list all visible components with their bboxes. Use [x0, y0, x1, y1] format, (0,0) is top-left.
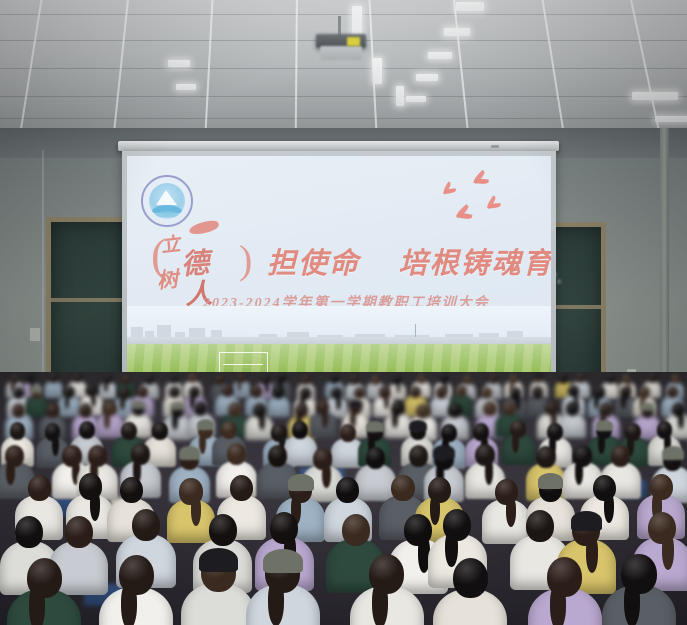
- headline-segment-1: 担使命: [267, 248, 360, 280]
- baseball-cap: [179, 446, 201, 460]
- audience-person-head: [103, 401, 116, 416]
- audience-person-head: [188, 373, 197, 383]
- audience-person-head: [599, 402, 612, 417]
- baseball-cap: [30, 385, 42, 393]
- audience-person-head: [11, 374, 20, 384]
- audience-person-head: [28, 475, 51, 501]
- audience-person-head: [336, 477, 359, 503]
- baseball-cap: [640, 402, 655, 411]
- baseball-cap: [170, 401, 185, 410]
- audience-person-head: [594, 386, 605, 399]
- baseball-cap: [199, 548, 238, 573]
- audience-person-head: [366, 447, 385, 469]
- baseball-cap: [26, 373, 36, 379]
- lecture-hall-photo: ( ) 立 德 树 人 担使命 培根铸魂育新人 2023-2024学年第一学期教…: [0, 0, 687, 625]
- headline-char-3: 树: [156, 263, 180, 295]
- audience-person-head: [145, 375, 154, 385]
- audience-person-head: [475, 444, 494, 466]
- projector-sticker-icon: [347, 37, 360, 46]
- audience-person-head: [371, 375, 380, 385]
- audience-person-head: [443, 509, 471, 541]
- audience-person-head: [27, 558, 62, 598]
- audience-person-head: [179, 478, 202, 504]
- audience-person-head: [489, 374, 498, 384]
- audience-person-head: [64, 386, 75, 399]
- baseball-cap: [534, 372, 544, 378]
- baseball-cap: [288, 474, 314, 490]
- brush-stroke-icon: [188, 219, 220, 236]
- audience-person-head: [79, 403, 92, 418]
- ceiling-light-panel: [406, 96, 426, 102]
- audience-person-head: [122, 375, 131, 385]
- ceiling-light-panel: [655, 116, 687, 122]
- audience-person-head: [209, 514, 237, 546]
- ceiling-light-panel: [352, 6, 362, 36]
- audience-person-head: [342, 514, 370, 546]
- audience-person-head: [65, 516, 93, 548]
- audience-person-head: [453, 558, 488, 598]
- audience-person-head: [12, 403, 25, 418]
- ceiling-light-panel: [416, 74, 438, 81]
- baseball-cap: [348, 399, 363, 408]
- baseball-cap: [366, 421, 384, 432]
- calligraphy-bracket-right-icon: ): [239, 236, 252, 283]
- audience-person-head: [369, 554, 404, 594]
- audience-person-head: [121, 422, 137, 440]
- audience-person-head: [392, 375, 401, 385]
- audience-person-head: [547, 557, 582, 597]
- audience-person-head: [340, 424, 356, 442]
- audience-person-head: [152, 422, 168, 440]
- ceiling-light-panel: [168, 60, 190, 67]
- audience-person-head: [410, 386, 421, 399]
- suspended-ceiling: [0, 0, 687, 128]
- wall-seam-left: [42, 150, 44, 400]
- audience-person-head: [313, 448, 332, 470]
- audience-person-head: [271, 424, 287, 442]
- audience-person-head: [230, 475, 253, 501]
- audience-person-head: [268, 445, 287, 467]
- audience-person-head: [576, 373, 585, 383]
- audience-person-head: [295, 403, 308, 418]
- audience-person-head: [227, 443, 246, 465]
- baseball-cap: [131, 400, 146, 409]
- audience-person-head: [391, 475, 414, 501]
- audience-person-head: [354, 387, 365, 400]
- audience-person-head: [559, 374, 568, 384]
- audience-person-head: [119, 387, 130, 400]
- audience-person-head: [137, 386, 148, 399]
- audience-person-head: [547, 423, 563, 441]
- audience-person-head: [611, 445, 630, 467]
- baseball-cap: [596, 420, 614, 431]
- baseball-cap: [662, 446, 684, 460]
- audience-person-head: [573, 445, 592, 467]
- presentation-slide: ( ) 立 德 树 人 担使命 培根铸魂育新人 2023-2024学年第一学期教…: [127, 156, 551, 398]
- audience-person-head: [404, 514, 432, 546]
- audience-person-head: [648, 512, 676, 544]
- ceiling-light-panel: [428, 52, 452, 59]
- audience-person-head: [221, 421, 237, 439]
- audience-person-head: [73, 373, 82, 383]
- projection-screen: ( ) 立 德 树 人 担使命 培根铸魂育新人 2023-2024学年第一学期教…: [122, 151, 556, 403]
- audience-person-head: [439, 374, 448, 384]
- audience-person-head: [189, 386, 200, 399]
- audience-person-torso: [284, 435, 317, 466]
- ceiling-light-panel: [632, 92, 678, 100]
- audience-person-head: [510, 387, 521, 400]
- audience-person-head: [10, 422, 26, 440]
- audience-person-head: [473, 423, 489, 441]
- baseball-cap: [538, 473, 564, 489]
- baseball-cap: [433, 445, 455, 459]
- audience-person-head: [194, 401, 207, 416]
- audience-person-head: [62, 445, 81, 467]
- audience-person-head: [417, 374, 426, 384]
- ceiling-light-panel: [373, 58, 382, 84]
- audience-person-head: [45, 423, 61, 441]
- audience-person-head: [495, 479, 518, 505]
- ceiling-light-panel: [444, 28, 470, 36]
- slide-headline-art: ( ) 立 德 树 人: [155, 220, 265, 296]
- audience-person-head: [273, 386, 284, 399]
- baseball-cap: [263, 549, 302, 574]
- audience-person-head: [169, 386, 180, 399]
- audience-person-head: [13, 387, 24, 400]
- audience-person-head: [222, 385, 233, 398]
- wall-switch-left[interactable]: [30, 328, 40, 341]
- audience-person-head: [46, 403, 59, 418]
- audience-person-head: [270, 512, 298, 544]
- audience-person-torso: [99, 382, 117, 399]
- audience-person-head: [441, 424, 457, 442]
- audience-person-head: [639, 386, 650, 399]
- audience-person-head: [436, 386, 447, 399]
- headline-char-1: 立: [160, 229, 182, 258]
- audience-person-head: [463, 375, 472, 385]
- audience-person-head: [621, 554, 656, 594]
- audience-person-head: [251, 385, 262, 398]
- audience-person-head: [416, 404, 429, 419]
- audience-person-head: [79, 473, 102, 499]
- audience-person-head: [237, 373, 246, 383]
- audience-person-head: [672, 402, 685, 417]
- ceiling-light-panel: [176, 84, 196, 90]
- audience-person-head: [545, 401, 558, 416]
- audience-person-head: [526, 510, 554, 542]
- audience-person-head: [120, 477, 143, 503]
- ceiling-light-panel: [456, 2, 484, 11]
- audience-person-torso: [58, 395, 81, 416]
- audience-person-head: [15, 516, 43, 548]
- audience-person-head: [648, 373, 657, 383]
- baseball-cap: [197, 419, 215, 430]
- audience-person-head: [253, 403, 266, 418]
- audience-person-head: [86, 385, 97, 398]
- audience-person-head: [606, 374, 615, 384]
- audience-person-head: [132, 509, 160, 541]
- audience-person-head: [593, 475, 616, 501]
- audience-person-head: [330, 374, 339, 384]
- audience-person-head: [620, 386, 631, 399]
- audience-person-head: [532, 386, 543, 399]
- audience-person-head: [350, 375, 359, 385]
- audience-person-torso: [355, 464, 396, 501]
- audience-person-head: [509, 374, 518, 384]
- audience-seating-area: [0, 372, 687, 625]
- audience-person-head: [536, 446, 555, 468]
- audience-person-torso: [44, 381, 62, 398]
- audience-person-torso: [25, 396, 48, 417]
- audience-person-head: [625, 423, 641, 441]
- audience-person-head: [5, 445, 24, 467]
- audience-person-head: [228, 402, 241, 417]
- audience-person-head: [566, 401, 579, 416]
- audience-person-head: [483, 401, 496, 416]
- baseball-cap: [409, 420, 427, 431]
- ceiling-light-panel: [396, 86, 404, 106]
- audience-person-head: [650, 474, 673, 500]
- audience-person-head: [448, 403, 461, 418]
- audience-person-head: [671, 374, 680, 384]
- audience-person-head: [409, 445, 428, 467]
- wall-pillar-right: [660, 128, 669, 398]
- audience-person-head: [119, 555, 154, 595]
- baseball-cap: [571, 511, 603, 531]
- audience-person-head: [428, 477, 451, 503]
- audience-person-head: [657, 421, 673, 439]
- slide-headline-main: 担使命 培根铸魂育新人: [267, 240, 551, 282]
- audience-person-head: [331, 387, 342, 400]
- audience-person-torso: [267, 396, 290, 417]
- audience-person-head: [503, 401, 516, 416]
- screen-roller-housing[interactable]: [118, 141, 559, 151]
- audience-person-head: [261, 375, 270, 385]
- screen-housing-marking-icon: [491, 145, 499, 148]
- headline-segment-2: 培根铸魂育新人: [399, 248, 551, 280]
- audience-person-head: [379, 386, 390, 399]
- audience-person-head: [300, 387, 311, 400]
- projector-housing: [320, 46, 362, 60]
- audience-person-head: [391, 401, 404, 416]
- audience-person-head: [79, 421, 95, 439]
